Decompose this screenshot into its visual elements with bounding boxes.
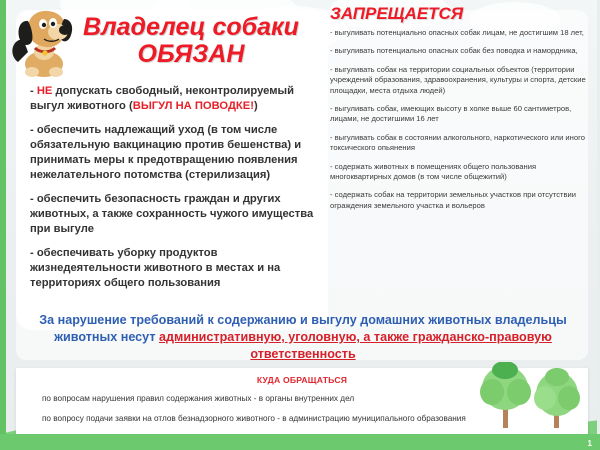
liability-warning: За нарушение требований к содержанию и в… bbox=[18, 312, 588, 363]
prohibition-item: - содержать собак на территории земельны… bbox=[330, 190, 592, 211]
item-emphasis-leash: ВЫГУЛ НА ПОВОДКЕ! bbox=[133, 100, 254, 112]
prohibition-item: - выгуливать собак на территории социаль… bbox=[330, 65, 592, 96]
left-title: Владелец собаки ОБЯЗАН bbox=[60, 14, 322, 68]
item-emphasis-ne: НЕ bbox=[37, 85, 53, 97]
slide-frame-left bbox=[0, 0, 6, 450]
prohibition-item: - выгуливать потенциально опасных собак … bbox=[330, 28, 592, 38]
slide-canvas: Владелец собаки ОБЯЗАН - НЕ допускать св… bbox=[0, 0, 600, 450]
page-number: 1 bbox=[588, 439, 592, 448]
prohibition-item: - выгуливать собак, имеющих высоту в хол… bbox=[330, 104, 592, 125]
grass-strip bbox=[0, 434, 600, 450]
item-prefix: - bbox=[30, 85, 37, 97]
item-suffix: ) bbox=[254, 100, 258, 112]
prohibition-item: - выгуливать потенциально опасных собак … bbox=[330, 46, 592, 56]
obligation-item: - обеспечивать уборку продуктов жизнедея… bbox=[30, 246, 325, 291]
prohibitions-list: - выгуливать потенциально опасных собак … bbox=[330, 28, 592, 219]
trees-decoration bbox=[462, 362, 592, 436]
obligation-item: - обеспечить безопасность граждан и друг… bbox=[30, 192, 325, 237]
obligation-item: - НЕ допускать свободный, неконтролируем… bbox=[30, 84, 325, 114]
right-title: ЗАПРЕЩАЕТСЯ bbox=[330, 4, 463, 24]
warning-red-text: административную, уголовную, а также гра… bbox=[159, 330, 552, 361]
prohibition-item: - выгуливать собак в состоянии алкогольн… bbox=[330, 133, 592, 154]
left-title-line-2: ОБЯЗАН bbox=[60, 41, 322, 68]
obligations-list: - НЕ допускать свободный, неконтролируем… bbox=[30, 84, 325, 300]
obligation-item: - обеспечить надлежащий уход (в том числ… bbox=[30, 123, 325, 183]
left-title-line-1: Владелец собаки bbox=[60, 14, 322, 41]
prohibition-item: - содержать животных в помещениях общего… bbox=[330, 162, 592, 183]
